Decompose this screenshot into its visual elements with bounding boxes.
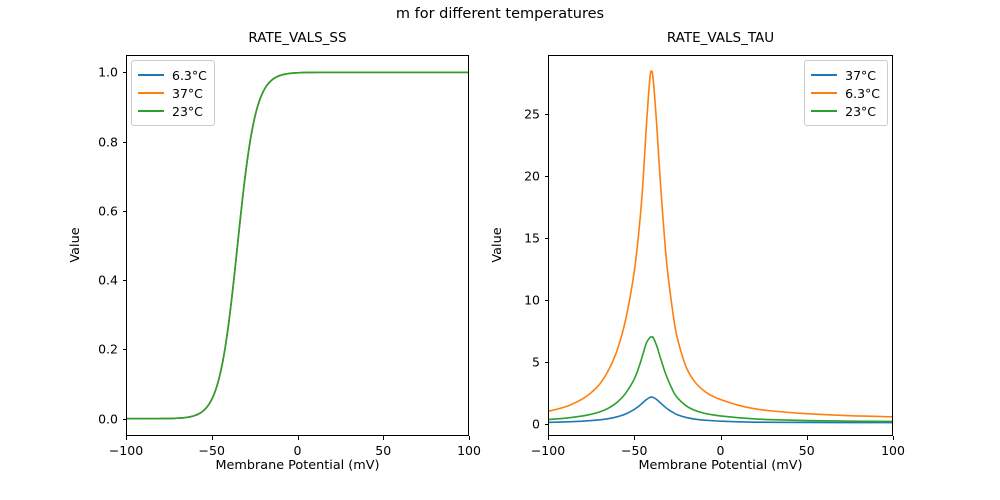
- legend-entry[interactable]: 37°C: [138, 84, 207, 102]
- x-tick: [721, 436, 722, 440]
- y-tick-label: 1.0: [98, 65, 118, 80]
- legend-entry[interactable]: 6.3°C: [811, 84, 880, 102]
- y-tick-label: 0.0: [98, 411, 118, 426]
- x-tick-label: 0: [294, 443, 302, 458]
- legend-color-swatch: [811, 74, 837, 76]
- x-tick: [469, 436, 470, 440]
- legend-color-swatch: [138, 74, 164, 76]
- subplot-title-tau: RATE_VALS_TAU: [548, 30, 893, 46]
- x-tick: [126, 436, 127, 440]
- legend-entry[interactable]: 6.3°C: [138, 66, 207, 84]
- y-tick: [123, 142, 127, 143]
- legend-entry[interactable]: 23°C: [138, 102, 207, 120]
- legend-entry[interactable]: 23°C: [811, 102, 880, 120]
- legend-color-swatch: [811, 92, 837, 94]
- y-tick-label: 0.4: [98, 273, 118, 288]
- legend-entry[interactable]: 37°C: [811, 66, 880, 84]
- y-tick-label: 0.6: [98, 203, 118, 218]
- x-tick-label: 50: [375, 443, 391, 458]
- y-tick: [545, 362, 549, 363]
- x-tick-label: −50: [621, 443, 647, 458]
- y-tick: [123, 419, 127, 420]
- y-tick: [545, 176, 549, 177]
- legend-color-swatch: [138, 92, 164, 94]
- y-tick: [545, 424, 549, 425]
- x-tick: [212, 436, 213, 440]
- legend-color-swatch: [138, 110, 164, 112]
- legend-label: 23°C: [845, 104, 876, 119]
- y-tick: [545, 114, 549, 115]
- ylabel-ss: Value: [68, 227, 83, 262]
- y-tick-label: 0.8: [98, 134, 118, 149]
- y-tick-label: 0.2: [98, 342, 118, 357]
- y-tick-label: 5: [532, 354, 540, 369]
- legend-ss[interactable]: 6.3°C37°C23°C: [131, 60, 215, 126]
- y-tick-label: 20: [524, 169, 540, 184]
- legend-color-swatch: [811, 110, 837, 112]
- legend-label: 23°C: [172, 104, 203, 119]
- subplot-rate-vals-tau: RATE_VALS_TAU −100−500501000510152025 Me…: [548, 55, 893, 436]
- figure-suptitle: m for different temperatures: [0, 6, 1000, 22]
- legend-label: 37°C: [845, 68, 876, 83]
- y-tick-label: 0: [532, 416, 540, 431]
- x-tick: [383, 436, 384, 440]
- ylabel-tau: Value: [490, 227, 505, 262]
- x-tick: [634, 436, 635, 440]
- x-tick-label: 100: [457, 443, 481, 458]
- x-tick-label: 0: [717, 443, 725, 458]
- subplot-rate-vals-ss: RATE_VALS_SS −100−500501000.00.20.40.60.…: [126, 55, 469, 436]
- x-tick-label: −50: [199, 443, 225, 458]
- y-tick-label: 25: [524, 107, 540, 122]
- xlabel-tau: Membrane Potential (mV): [548, 458, 893, 473]
- y-tick: [545, 300, 549, 301]
- x-tick-label: 50: [799, 443, 815, 458]
- x-tick: [548, 436, 549, 440]
- matplotlib-figure: m for different temperatures RATE_VALS_S…: [0, 0, 1000, 500]
- subplot-title-ss: RATE_VALS_SS: [126, 30, 469, 46]
- xlabel-ss: Membrane Potential (mV): [126, 458, 469, 473]
- x-tick-label: −100: [109, 443, 143, 458]
- legend-label: 6.3°C: [172, 68, 207, 83]
- x-tick: [298, 436, 299, 440]
- y-tick: [123, 349, 127, 350]
- x-tick: [893, 436, 894, 440]
- x-tick-label: 100: [881, 443, 905, 458]
- legend-label: 6.3°C: [845, 86, 880, 101]
- x-tick: [807, 436, 808, 440]
- y-tick-label: 10: [524, 292, 540, 307]
- y-tick: [545, 238, 549, 239]
- y-tick: [123, 211, 127, 212]
- y-tick-label: 15: [524, 231, 540, 246]
- x-tick-label: −100: [531, 443, 565, 458]
- legend-tau[interactable]: 37°C6.3°C23°C: [804, 60, 888, 126]
- legend-label: 37°C: [172, 86, 203, 101]
- y-tick: [123, 280, 127, 281]
- y-tick: [123, 72, 127, 73]
